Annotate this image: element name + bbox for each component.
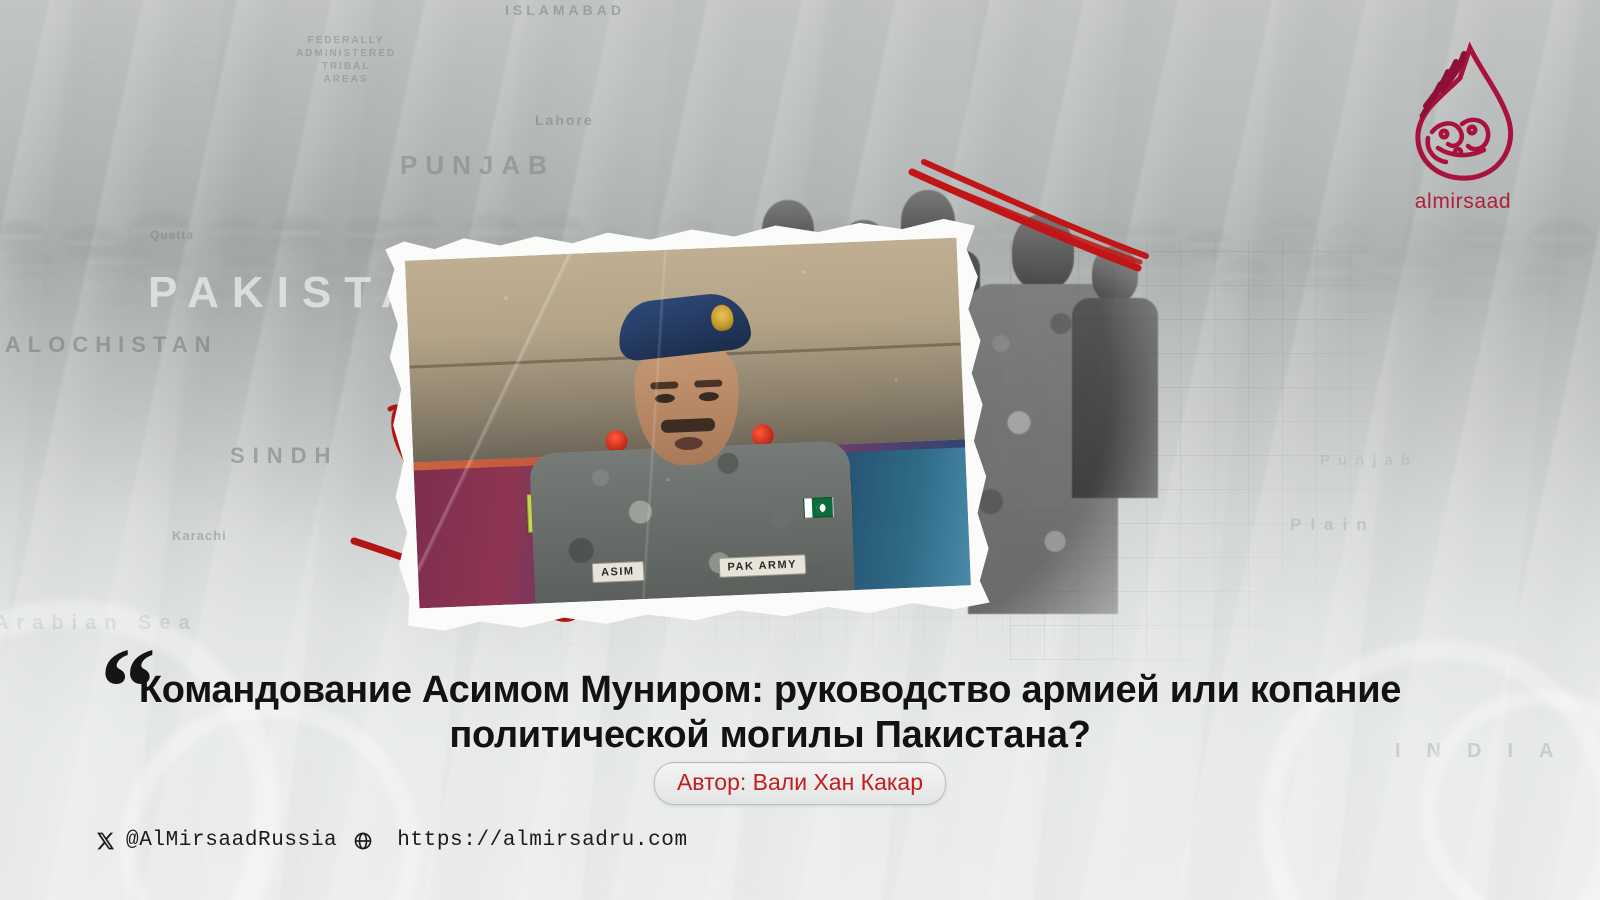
ghost-helmet (0, 285, 67, 329)
nametape-asim: ASIM (592, 561, 644, 583)
brand-name: almirsaad (1398, 190, 1528, 214)
nametape-pak-army: PAK ARMY (718, 554, 806, 578)
x-twitter-icon[interactable] (96, 831, 116, 851)
ghost-helmet (1528, 217, 1595, 258)
photo-frame: IR AG COM ASIM PAK ARMY (380, 213, 996, 638)
map-label: BALOCHISTAN (0, 332, 217, 358)
ghost-helmet (84, 286, 153, 329)
pakistan-flag-patch-icon (803, 497, 834, 518)
headline-line-1: Командование Асимом Муниром: руководство… (139, 669, 1401, 711)
ghost-helmet (60, 223, 120, 260)
blue-beret (615, 290, 753, 362)
ghost-helmet (1370, 247, 1442, 292)
polaroid-photo: IR AG COM ASIM PAK ARMY (380, 213, 996, 638)
page-title: Командование Асимом Муниром: руководство… (60, 668, 1480, 758)
map-label: PUNJAB (400, 150, 555, 181)
headline-line-2: политической могилы Пакистана? (449, 714, 1090, 756)
beret-badge-icon (710, 304, 735, 332)
globe-icon[interactable] (353, 831, 373, 851)
ghost-helmet (0, 219, 49, 254)
ghost-helmet (1514, 262, 1568, 296)
almirsaad-teardrop-calligraphy-logo-icon (1398, 38, 1528, 188)
ghost-helmet (267, 214, 326, 251)
x-handle[interactable]: @AlMirsaadRussia (126, 829, 337, 852)
ghost-helmet (2, 249, 59, 284)
footer-bar: @AlMirsaadRussia https://almirsadru.com (96, 829, 688, 852)
map-label: Lahore (535, 112, 594, 128)
photo-image: IR AG COM ASIM PAK ARMY (405, 238, 971, 609)
collage-figure (1072, 246, 1158, 496)
map-label: SINDH (230, 443, 338, 469)
officer-figure: ASIM PAK ARMY (518, 290, 860, 604)
website-url[interactable]: https://almirsadru.com (397, 829, 687, 852)
social-media-card: PAKISTANBALOCHISTANSINDHPUNJABISLAMABADL… (0, 0, 1600, 900)
author-badge: Автор: Вали Хан Какар (654, 762, 946, 805)
brand-logo[interactable]: almirsaad (1398, 38, 1528, 228)
ghost-helmet (207, 214, 265, 250)
map-label-fata: FEDERALLYADMINISTEREDTRIBALAREAS (296, 34, 396, 86)
map-label: Quetta (150, 228, 194, 242)
map-label: ISLAMABAD (505, 2, 625, 18)
ghost-helmet (1453, 263, 1504, 294)
map-label: Karachi (172, 528, 227, 543)
